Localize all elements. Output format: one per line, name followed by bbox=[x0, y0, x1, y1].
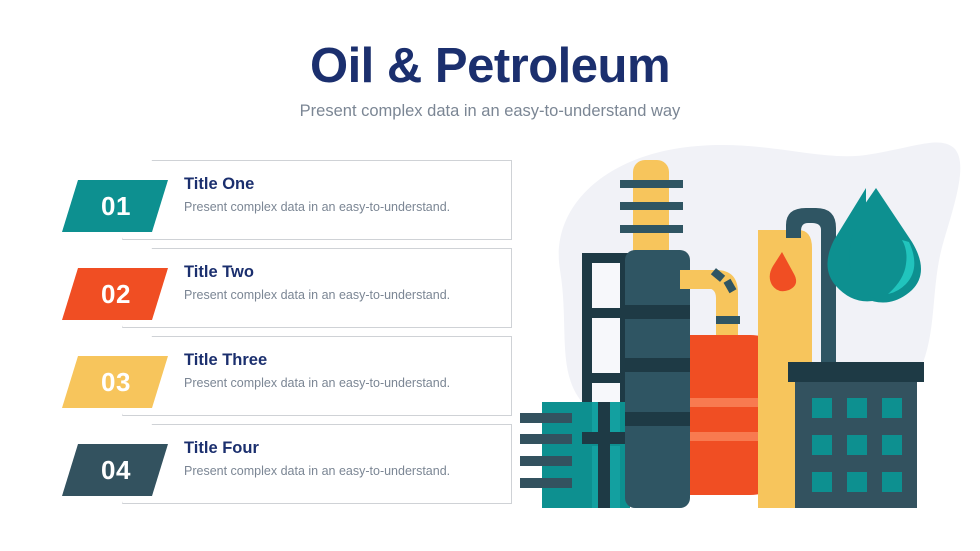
list-item-number: 02 bbox=[99, 279, 131, 310]
list-item[interactable]: 03 Title Three Present complex data in a… bbox=[0, 336, 540, 423]
list-item[interactable]: 04 Title Four Present complex data in an… bbox=[0, 424, 540, 511]
chimney-band-1 bbox=[620, 180, 683, 188]
list-item-number-badge: 03 bbox=[62, 356, 168, 408]
page-subtitle: Present complex data in an easy-to-under… bbox=[0, 100, 980, 122]
page-title: Oil & Petroleum bbox=[0, 38, 980, 94]
list-item[interactable]: 01 Title One Present complex data in an … bbox=[0, 160, 540, 247]
list-item-number: 03 bbox=[99, 367, 131, 398]
list-item-title: Title One bbox=[184, 174, 504, 194]
list-item-description: Present complex data in an easy-to-under… bbox=[184, 463, 504, 479]
list-item[interactable]: 02 Title Two Present complex data in an … bbox=[0, 248, 540, 335]
chimney-band-2 bbox=[620, 202, 683, 210]
list-item-title: Title Three bbox=[184, 350, 504, 370]
list-item-number-badge: 04 bbox=[62, 444, 168, 496]
slide-root: Oil & Petroleum Present complex data in … bbox=[0, 0, 980, 551]
list-item-number: 04 bbox=[99, 455, 131, 486]
oil-refinery-illustration bbox=[520, 130, 980, 530]
list-item-number-badge: 01 bbox=[62, 180, 168, 232]
feature-list: 01 Title One Present complex data in an … bbox=[0, 160, 540, 512]
list-item-number-badge: 02 bbox=[62, 268, 168, 320]
list-item-number: 01 bbox=[99, 191, 131, 222]
header: Oil & Petroleum Present complex data in … bbox=[0, 38, 980, 122]
chimney-band-3 bbox=[620, 225, 683, 233]
list-item-description: Present complex data in an easy-to-under… bbox=[184, 375, 504, 391]
list-item-title: Title Four bbox=[184, 438, 504, 458]
list-item-text: Title Three Present complex data in an e… bbox=[184, 350, 504, 391]
list-item-description: Present complex data in an easy-to-under… bbox=[184, 287, 504, 303]
list-item-text: Title One Present complex data in an eas… bbox=[184, 174, 504, 215]
list-item-text: Title Two Present complex data in an eas… bbox=[184, 262, 504, 303]
list-item-description: Present complex data in an easy-to-under… bbox=[184, 199, 504, 215]
office-building bbox=[788, 362, 924, 508]
teal-block-left bbox=[520, 402, 630, 508]
list-item-title: Title Two bbox=[184, 262, 504, 282]
list-item-text: Title Four Present complex data in an ea… bbox=[184, 438, 504, 479]
